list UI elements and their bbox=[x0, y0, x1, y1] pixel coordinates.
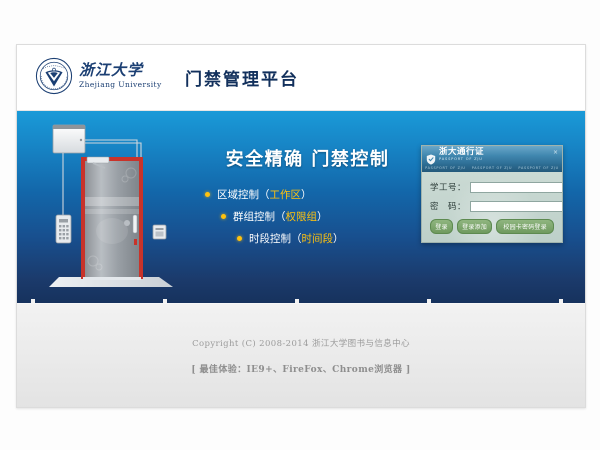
feature-highlight: 权限组 bbox=[286, 209, 318, 224]
feature-highlight: 工作区 bbox=[270, 187, 302, 202]
username-label: 学工号： bbox=[430, 181, 470, 193]
copyright-text: Copyright (C) 2008-2014 浙江大学图书与信息中心 bbox=[192, 337, 410, 349]
login-panel-stripe: PASSPORT OF ZJU PASSPORT OF ZJU PASSPORT… bbox=[422, 164, 562, 172]
feature-text: 时段控制（ bbox=[249, 231, 302, 246]
page-root: 浙江大学 Zhejiang University 门禁管理平台 bbox=[0, 0, 600, 450]
access-control-door-illustration bbox=[41, 119, 191, 301]
feature-highlight: 时间段 bbox=[302, 231, 334, 246]
username-row: 学工号： bbox=[430, 181, 554, 193]
banner-copy: 安全精确 门禁控制 区域控制（工作区） 群组控制（权限组） 时段控制（时间段） bbox=[195, 145, 420, 262]
login-panel-titlebar: 浙大通行证 PASSPORT OF ZJU × bbox=[422, 146, 562, 164]
browser-support-text: [ 最佳体验：IE9+、FireFox、Chrome浏览器 ] bbox=[191, 362, 410, 375]
password-label: 密 码： bbox=[430, 200, 470, 212]
app-window: 浙江大学 Zhejiang University 门禁管理平台 bbox=[16, 44, 586, 408]
campus-card-login-button[interactable]: 校园卡密码登录 bbox=[496, 219, 554, 234]
page-title: 门禁管理平台 bbox=[185, 65, 299, 90]
login-add-button[interactable]: 登录添加 bbox=[457, 219, 492, 234]
password-row: 密 码： bbox=[430, 200, 554, 212]
login-form: 学工号： 密 码： 登录 登录添加 校园卡密码登录 bbox=[422, 172, 562, 242]
site-footer: Copyright (C) 2008-2014 浙江大学图书与信息中心 [ 最佳… bbox=[17, 303, 585, 408]
stripe-text: PASSPORT OF ZJU bbox=[425, 166, 465, 170]
login-button-group: 登录 登录添加 校园卡密码登录 bbox=[430, 219, 554, 234]
login-panel: 浙大通行证 PASSPORT OF ZJU × PASSPORT OF ZJU … bbox=[421, 145, 563, 243]
bullet-dot-icon bbox=[237, 236, 242, 241]
stripe-text: PASSPORT OF ZJU bbox=[472, 166, 512, 170]
bullet-dot-icon bbox=[221, 214, 226, 219]
close-icon[interactable]: × bbox=[552, 149, 559, 156]
banner-headline: 安全精确 门禁控制 bbox=[195, 145, 420, 171]
feature-tail: ） bbox=[301, 187, 312, 202]
login-panel-title: 浙大通行证 bbox=[439, 148, 484, 157]
hero-banner: 安全精确 门禁控制 区域控制（工作区） 群组控制（权限组） 时段控制（时间段） bbox=[17, 111, 585, 303]
list-item: 时段控制（时间段） bbox=[237, 231, 420, 246]
list-item: 区域控制（工作区） bbox=[205, 187, 420, 202]
feature-tail: ） bbox=[333, 231, 344, 246]
stripe-text: PASSPORT OF ZJU bbox=[518, 166, 558, 170]
logo-text-cn: 浙江大学 bbox=[79, 63, 162, 78]
list-item: 群组控制（权限组） bbox=[221, 209, 420, 224]
feature-text: 群组控制（ bbox=[233, 209, 286, 224]
login-panel-subtitle: PASSPORT OF ZJU bbox=[439, 158, 484, 162]
password-input[interactable] bbox=[470, 201, 563, 212]
feature-tail: ） bbox=[317, 209, 328, 224]
bullet-dot-icon bbox=[205, 192, 210, 197]
brand-logo[interactable]: 浙江大学 Zhejiang University bbox=[35, 57, 162, 95]
login-button[interactable]: 登录 bbox=[430, 219, 453, 234]
logo-text-en: Zhejiang University bbox=[79, 81, 162, 89]
zju-emblem-icon bbox=[35, 57, 73, 95]
username-input[interactable] bbox=[470, 182, 563, 193]
site-header: 浙江大学 Zhejiang University 门禁管理平台 bbox=[17, 45, 585, 111]
shield-icon bbox=[426, 150, 436, 161]
feature-text: 区域控制（ bbox=[217, 187, 270, 202]
feature-list: 区域控制（工作区） 群组控制（权限组） 时段控制（时间段） bbox=[195, 187, 420, 246]
